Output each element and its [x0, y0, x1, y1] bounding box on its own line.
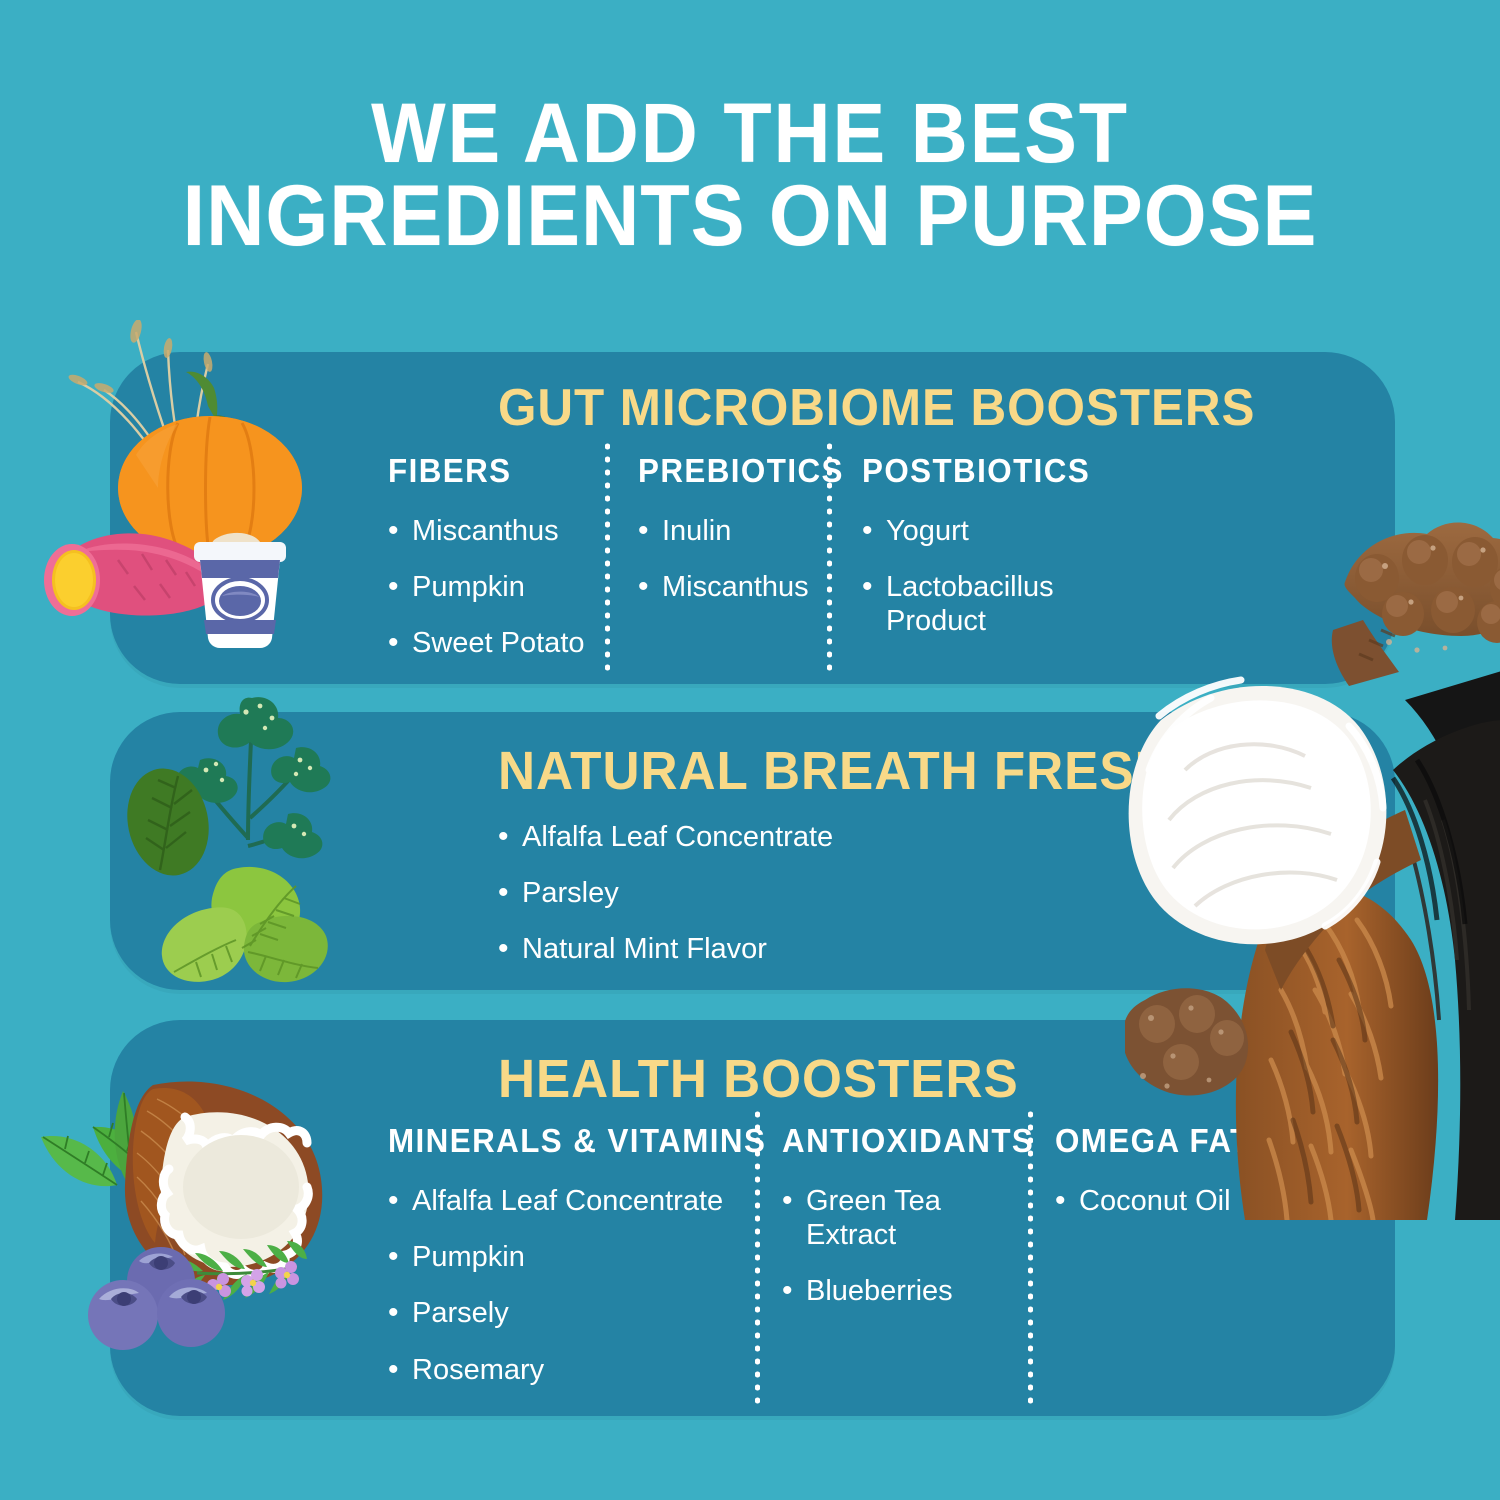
column-head-postbiotics: POSTBIOTICS	[862, 452, 1081, 490]
list-antioxidants: Green Tea Extract Blueberries	[782, 1184, 997, 1309]
parsley-mint-leaves-icon	[120, 690, 370, 990]
column-postbiotics: POSTBIOTICS Yogurt Lactobacillus Product	[862, 452, 1092, 661]
list-item: Inulin	[638, 514, 818, 548]
list-item: Rosemary	[388, 1353, 738, 1387]
list-item: Pumpkin	[388, 570, 588, 604]
list-minerals-vitamins: Alfalfa Leaf Concentrate Pumpkin Parsely…	[388, 1184, 738, 1387]
column-head-prebiotics: PREBIOTICS	[638, 452, 809, 490]
list-prebiotics: Inulin Miscanthus	[638, 514, 818, 604]
list-breath-fresheners: Alfalfa Leaf Concentrate Parsley Natural…	[498, 820, 833, 989]
column-head-antioxidants: ANTIOXIDANTS	[782, 1122, 986, 1160]
column-minerals-vitamins: MINERALS & VITAMINS Alfalfa Leaf Concent…	[388, 1122, 738, 1409]
column-fibers: FIBERS Miscanthus Pumpkin Sweet Potato	[388, 452, 588, 683]
list-item: Natural Mint Flavor	[498, 932, 833, 966]
pumpkin-sweet-potato-yogurt-icon	[18, 320, 348, 660]
list-item: Yogurt	[862, 514, 1092, 548]
list-item: Pumpkin	[388, 1240, 738, 1274]
list-item: Miscanthus	[388, 514, 588, 548]
list-item: Green Tea Extract	[782, 1184, 997, 1252]
list-item: Parsley	[498, 876, 833, 910]
list-item: Sweet Potato	[388, 626, 588, 660]
column-head-fibers: FIBERS	[388, 452, 578, 490]
column-prebiotics: PREBIOTICS Inulin Miscanthus	[638, 452, 818, 626]
list-item: Blueberries	[782, 1274, 997, 1308]
card-title-gut: GUT MICROBIOME BOOSTERS	[498, 378, 1255, 438]
column-head-minerals-vitamins: MINERALS & VITAMINS	[388, 1122, 721, 1160]
list-item: Miscanthus	[638, 570, 818, 604]
list-item: Lactobacillus Product	[862, 570, 1092, 638]
headline-line-2: INGREDIENTS ON PURPOSE	[45, 174, 1455, 258]
list-item: Parsely	[388, 1296, 738, 1330]
list-item: Alfalfa Leaf Concentrate	[388, 1184, 738, 1218]
column-antioxidants: ANTIOXIDANTS Green Tea Extract Blueberri…	[782, 1122, 997, 1331]
coconut-blueberry-rosemary-icon	[35, 1075, 335, 1360]
card-title-health: HEALTH BOOSTERS	[498, 1048, 1019, 1110]
list-fibers: Miscanthus Pumpkin Sweet Potato	[388, 514, 588, 661]
list-item: Alfalfa Leaf Concentrate	[498, 820, 833, 854]
page-title: WE ADD THE BEST INGREDIENTS ON PURPOSE	[45, 92, 1455, 259]
list-postbiotics: Yogurt Lactobacillus Product	[862, 514, 1092, 639]
headline-line-1: WE ADD THE BEST	[371, 86, 1129, 180]
dog-paw-icon	[1125, 520, 1500, 1220]
